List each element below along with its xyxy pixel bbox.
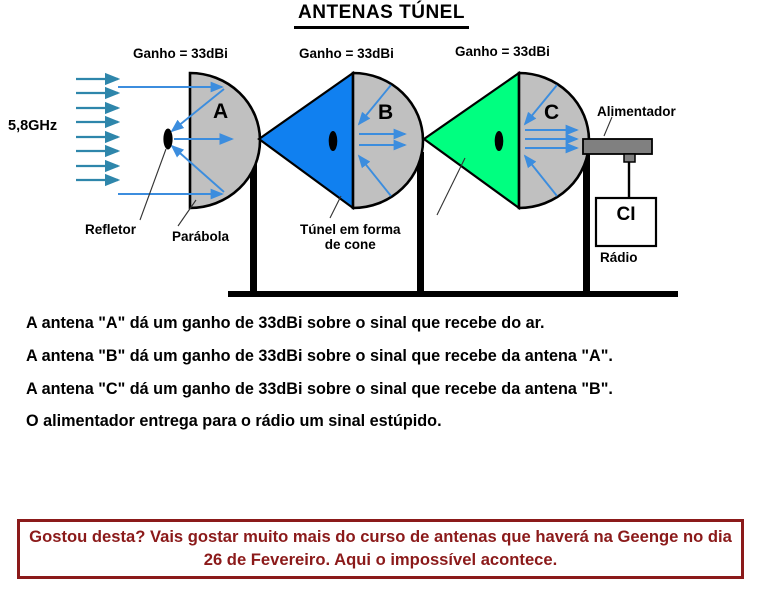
gain-label-a: Ganho = 33dBi bbox=[133, 46, 228, 61]
tunnel-callout-line1: Túnel em forma bbox=[300, 222, 401, 237]
feeder-connector bbox=[624, 154, 635, 162]
leader-tunel-2 bbox=[437, 158, 465, 215]
reflector-callout-label: Refletor bbox=[85, 222, 136, 237]
antenna-a-letter: A bbox=[213, 100, 228, 124]
frequency-label: 5,8GHz bbox=[8, 118, 57, 134]
feeder-callout-label: Alimentador bbox=[597, 104, 676, 119]
antenna-b-group bbox=[353, 73, 423, 208]
antenna-a-group bbox=[118, 73, 260, 226]
description-paragraph: O alimentador entrega para o rádio um si… bbox=[26, 411, 741, 433]
blue-cone-body bbox=[259, 73, 353, 208]
feeder-assembly bbox=[583, 117, 656, 246]
feeder-bar bbox=[583, 139, 652, 154]
support-pole-c bbox=[583, 152, 590, 292]
description-paragraph: A antena "B" dá um ganho de 33dBi sobre … bbox=[26, 344, 741, 369]
antenna-b-letter: B bbox=[378, 101, 393, 125]
green-cone-body bbox=[424, 73, 519, 208]
radio-callout-label: Rádio bbox=[600, 250, 638, 265]
leader-alimentador bbox=[604, 117, 612, 136]
parabola-callout-label: Parábola bbox=[172, 229, 229, 244]
antenna-a-dish bbox=[190, 73, 260, 208]
tunnel-callout-line2: de cone bbox=[325, 237, 376, 252]
antenna-a-reflector bbox=[163, 129, 172, 150]
incoming-wave-arrows bbox=[76, 79, 118, 180]
tunnel-callout-label: Túnel em forma de cone bbox=[300, 222, 401, 252]
green-cone-focus-element bbox=[495, 131, 504, 151]
description-text-block: A antena "A" dá um ganho de 33dBi sobre … bbox=[26, 313, 741, 432]
gain-label-b: Ganho = 33dBi bbox=[299, 46, 394, 61]
page-root: ANTENAS TÚNEL bbox=[0, 0, 763, 600]
ground-line bbox=[228, 291, 678, 297]
cone-tunnel-blue bbox=[259, 73, 353, 218]
antenna-c-dish bbox=[519, 73, 589, 208]
leader-tunel bbox=[330, 196, 341, 218]
promo-banner-text: Gostou desta? Vais gostar muito mais do … bbox=[20, 526, 741, 572]
ci-box-label: CI bbox=[598, 204, 654, 226]
description-paragraph: A antena "C" dá um ganho de 33dBi sobre … bbox=[26, 377, 741, 402]
gain-label-c: Ganho = 33dBi bbox=[455, 44, 550, 59]
antenna-b-dish bbox=[353, 73, 423, 208]
antenna-c-group bbox=[519, 73, 589, 208]
promo-banner: Gostou desta? Vais gostar muito mais do … bbox=[17, 519, 744, 579]
support-pole-b bbox=[417, 152, 424, 292]
leader-parabola bbox=[178, 200, 196, 226]
description-paragraph: A antena "A" dá um ganho de 33dBi sobre … bbox=[26, 313, 741, 335]
antenna-c-letter: C bbox=[544, 101, 559, 125]
cone-tunnel-green bbox=[424, 73, 519, 215]
blue-cone-focus-element bbox=[329, 131, 338, 151]
leader-refletor bbox=[140, 149, 166, 220]
